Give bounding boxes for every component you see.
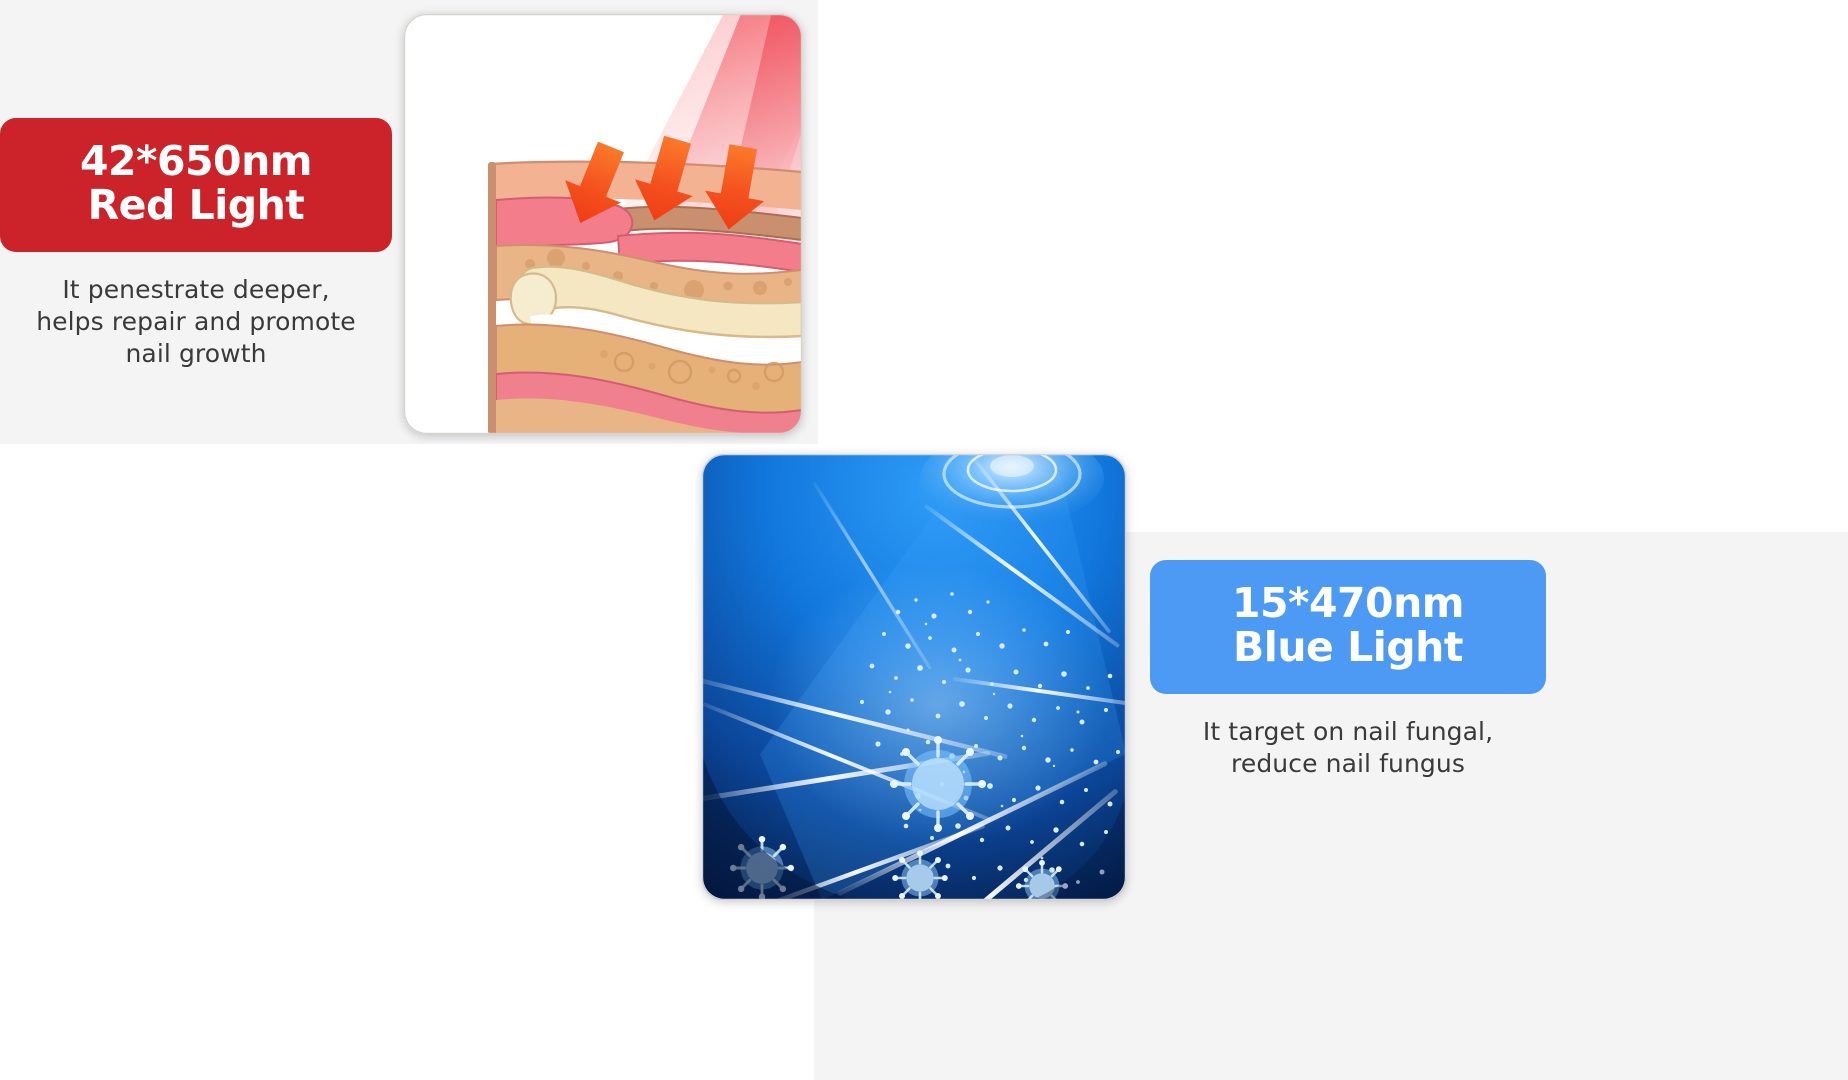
blue-badge-line-2: Blue Light <box>1166 625 1530 669</box>
red-caption-line-1: It penestrate deeper, <box>0 274 392 306</box>
red-badge-line-2: Red Light <box>16 183 376 227</box>
blue-light-fungus-image-card <box>702 454 1126 900</box>
blue-caption-line-1: It target on nail fungal, <box>1150 716 1546 748</box>
red-caption-line-2: helps repair and promote <box>0 306 392 338</box>
red-badge-line-1: 42*650nm <box>80 137 312 185</box>
blue-badge-line-1: 15*470nm <box>1232 579 1464 627</box>
nail-cross-section-image-card <box>404 14 802 434</box>
red-caption-line-3: nail growth <box>0 338 392 370</box>
red-light-caption: It penestrate deeper, helps repair and p… <box>0 252 392 370</box>
blue-light-caption: It target on nail fungal, reduce nail fu… <box>1150 694 1546 780</box>
blue-caption-line-2: reduce nail fungus <box>1150 748 1546 780</box>
red-light-text-block: 42*650nm Red Light It penestrate deeper,… <box>0 118 392 370</box>
nail-cross-section-illustration <box>404 14 802 434</box>
blue-light-text-block: 15*470nm Blue Light It target on nail fu… <box>1150 560 1546 780</box>
skin-edge-line <box>488 162 496 434</box>
red-light-badge: 42*650nm Red Light <box>0 118 392 252</box>
blue-light-fungus-illustration <box>702 454 1126 900</box>
blue-light-badge: 15*470nm Blue Light <box>1150 560 1546 694</box>
